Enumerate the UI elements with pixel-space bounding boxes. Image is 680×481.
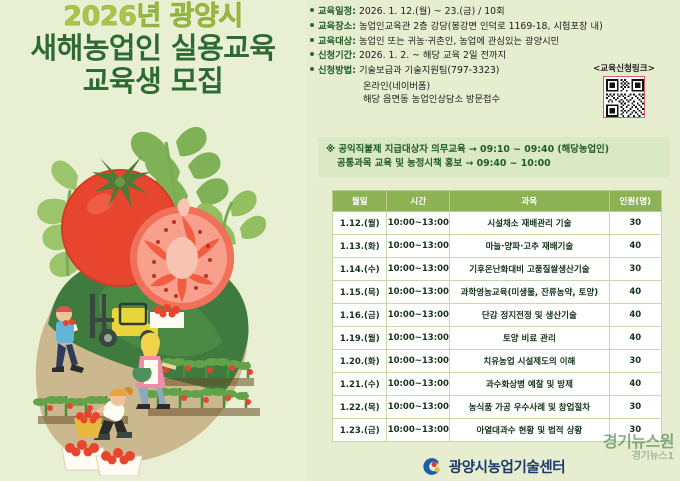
cell-capacity: 40 [609, 281, 661, 304]
info-value: 농업인교육관 2층 강당(봉강면 인덕로 1169-18, 시험포장 내) [359, 21, 603, 33]
footer: 광양시농업기술센터 [306, 456, 680, 477]
cell-date: 1.12.(월) [333, 212, 387, 235]
cell-date: 1.13.(화) [333, 235, 387, 258]
cell-capacity: 30 [609, 396, 661, 419]
column-header-subject: 과목 [450, 191, 609, 212]
list-item: 신청기간: 2026. 1. 2. ~ 해당 교육 2일 전까지 [310, 50, 678, 62]
cell-subject: 아열대과수 현황 및 법적 상황 [450, 419, 609, 442]
cell-date: 1.15.(목) [333, 281, 387, 304]
cell-subject: 마늘·양파·고추 재배기술 [450, 235, 609, 258]
cell-time: 10:00~13:00 [387, 327, 450, 350]
info-value: 기술보급과 기술지원팀(797-3323) [359, 65, 500, 77]
cell-capacity: 40 [609, 304, 661, 327]
notice-line-2: 공통과목 교육 및 농정시책 홍보 → 09:40 ~ 10:00 [326, 157, 662, 171]
table-row: 1.15.(목)10:00~13:00과학영농교육(미생물, 잔류농약, 토양)… [333, 281, 662, 304]
schedule-table: 월일 시간 과목 인원(명) 1.12.(월)10:00~13:00시설채소 재… [332, 190, 662, 442]
cell-date: 1.23.(금) [333, 419, 387, 442]
cell-capacity: 40 [609, 235, 661, 258]
schedule-body: 1.12.(월)10:00~13:00시설채소 재배관리 기술301.13.(화… [333, 212, 662, 442]
info-label: 교육장소: [318, 21, 356, 33]
table-row: 1.14.(수)10:00~13:00기후온난화대비 고품질쌀생산기술30 [333, 258, 662, 281]
table-row: 1.13.(화)10:00~13:00마늘·양파·고추 재배기술40 [333, 235, 662, 258]
cell-time: 10:00~13:00 [387, 373, 450, 396]
bullet-dot-icon [310, 38, 314, 42]
cell-capacity: 30 [609, 212, 661, 235]
cell-subject: 치유농업 시설제도의 이해 [450, 350, 609, 373]
cell-subject: 단감 정지전정 및 생산기술 [450, 304, 609, 327]
cell-time: 10:00~13:00 [387, 281, 450, 304]
cell-capacity: 40 [609, 327, 661, 350]
info-label: 교육일정: [318, 6, 356, 18]
column-header-capacity: 인원(명) [609, 191, 661, 212]
column-header-date: 월일 [333, 191, 387, 212]
poster-title-line-2: 새해농업인 실용교육 [0, 32, 306, 64]
left-panel: 2026년 광양시 새해농업인 실용교육 교육생 모집 [0, 0, 306, 481]
info-label: 신청기간: [318, 50, 356, 62]
cell-date: 1.19.(월) [333, 327, 387, 350]
cell-date: 1.16.(금) [333, 304, 387, 327]
notice-box: ※ 공익직불제 지급대상자 의무교육 → 09:10 ~ 09:40 (해당농업… [318, 137, 670, 177]
bullet-dot-icon [310, 52, 314, 56]
table-row: 1.16.(금)10:00~13:00단감 정지전정 및 생산기술40 [333, 304, 662, 327]
table-row: 1.20.(화)10:00~13:00치유농업 시설제도의 이해30 [333, 350, 662, 373]
right-panel: 교육일정: 2026. 1. 12.(월) ~ 23.(금) / 10회 교육장… [306, 0, 680, 481]
gwangyang-city-logo-icon [421, 456, 442, 477]
cell-subject: 과수화상병 예찰 및 방제 [450, 373, 609, 396]
cell-capacity: 30 [609, 350, 661, 373]
table-row: 1.21.(수)10:00~13:00과수화상병 예찰 및 방제40 [333, 373, 662, 396]
cell-date: 1.22.(목) [333, 396, 387, 419]
cell-time: 10:00~13:00 [387, 396, 450, 419]
cell-time: 10:00~13:00 [387, 258, 450, 281]
info-value: 2026. 1. 2. ~ 해당 교육 2일 전까지 [359, 50, 506, 62]
table-row: 1.23.(금)10:00~13:00아열대과수 현황 및 법적 상황30 [333, 419, 662, 442]
footer-organization: 광양시농업기술센터 [449, 456, 565, 477]
cell-time: 10:00~13:00 [387, 212, 450, 235]
info-value: 2026. 1. 12.(월) ~ 23.(금) / 10회 [359, 6, 505, 18]
title-block: 2026년 광양시 새해농업인 실용교육 교육생 모집 [0, 2, 306, 97]
table-row: 1.12.(월)10:00~13:00시설채소 재배관리 기술30 [333, 212, 662, 235]
table-row: 1.22.(목)10:00~13:00농식품 가공 우수사례 및 창업절차30 [333, 396, 662, 419]
list-item: 교육대상: 농업인 또는 귀농·귀촌인, 농업에 관심있는 광양시민 [310, 36, 678, 48]
poster-root: 2026년 광양시 새해농업인 실용교육 교육생 모집 [0, 0, 680, 481]
cell-time: 10:00~13:00 [387, 304, 450, 327]
table-row: 1.19.(월)10:00~13:00토양 비료 관리40 [333, 327, 662, 350]
info-label: 교육대상: [318, 36, 356, 48]
cell-subject: 시설채소 재배관리 기술 [450, 212, 609, 235]
cell-date: 1.14.(수) [333, 258, 387, 281]
table-header-row: 월일 시간 과목 인원(명) [333, 191, 662, 212]
cell-time: 10:00~13:00 [387, 350, 450, 373]
cell-subject: 토양 비료 관리 [450, 327, 609, 350]
column-header-time: 시간 [387, 191, 450, 212]
info-label: 신청방법: [318, 65, 356, 77]
cell-subject: 과학영농교육(미생물, 잔류농약, 토양) [450, 281, 609, 304]
cell-date: 1.20.(화) [333, 350, 387, 373]
list-item: 교육일정: 2026. 1. 12.(월) ~ 23.(금) / 10회 [310, 6, 678, 18]
tomato-farm-illustration [8, 116, 300, 476]
qr-code[interactable] [603, 76, 645, 118]
cell-capacity: 30 [609, 258, 661, 281]
info-value: 농업인 또는 귀농·귀촌인, 농업에 관심있는 광양시민 [359, 36, 559, 48]
bullet-dot-icon [310, 67, 314, 71]
bullet-dot-icon [310, 23, 314, 27]
cell-time: 10:00~13:00 [387, 419, 450, 442]
poster-title-line-3: 교육생 모집 [0, 65, 306, 97]
cell-capacity: 30 [609, 419, 661, 442]
cell-date: 1.21.(수) [333, 373, 387, 396]
notice-line-1: ※ 공익직불제 지급대상자 의무교육 → 09:10 ~ 09:40 (해당농업… [326, 143, 662, 157]
qr-block: <교육신청링크> [582, 62, 666, 118]
cell-subject: 농식품 가공 우수사례 및 창업절차 [450, 396, 609, 419]
list-item: 교육장소: 농업인교육관 2층 강당(봉강면 인덕로 1169-18, 시험포장… [310, 21, 678, 33]
cell-subject: 기후온난화대비 고품질쌀생산기술 [450, 258, 609, 281]
cell-time: 10:00~13:00 [387, 235, 450, 258]
qr-caption: <교육신청링크> [582, 62, 666, 74]
bullet-dot-icon [310, 8, 314, 12]
poster-title-line-1: 2026년 광양시 [0, 2, 306, 32]
cell-capacity: 40 [609, 373, 661, 396]
